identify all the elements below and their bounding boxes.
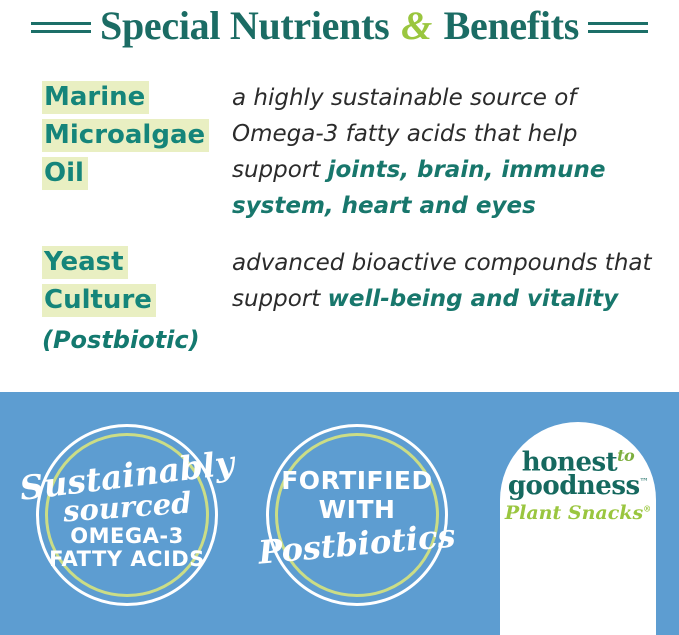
badge-fortified-with-postbiotics: FORTIFIED WITH Postbiotics [266, 424, 448, 606]
badge-line-2: sourced [62, 486, 192, 527]
brand-line-plant-snacks: Plant Snacks® [500, 504, 656, 523]
nutrient-label-line: Microalgae [42, 119, 209, 152]
brand-word-goodness: goodness [508, 471, 640, 501]
nutrient-label-yeast: Yeast Culture (Postbiotic) [42, 243, 232, 359]
page-title-part1: Special Nutrients [100, 3, 399, 48]
nutrient-label-line: Oil [42, 157, 88, 190]
brand-words-plant-snacks: Plant Snacks [505, 502, 643, 524]
description-emphasis-text: well-being and vitality [328, 286, 618, 312]
brand-trademark-symbol: ™ [640, 477, 649, 487]
nutrients-panel: Special Nutrients & Benefits Marine Micr… [0, 0, 679, 392]
page-title-part2: Benefits [434, 3, 579, 48]
badges-panel: Sustainably sourced OMEGA-3 FATTY ACIDS … [0, 392, 679, 635]
brand-logo: honestto goodness™ Plant Snacks® [500, 448, 656, 523]
badge-text-block: Sustainably sourced OMEGA-3 FATTY ACIDS [36, 424, 218, 606]
nutrient-label-subtitle: (Postbiotic) [42, 319, 200, 359]
rule-right-icon [588, 20, 648, 33]
brand-word-to: to [617, 446, 634, 465]
nutrient-label-line: Marine [42, 81, 149, 114]
nutrient-row: Marine Microalgae Oil a highly sustainab… [42, 78, 652, 224]
section-header: Special Nutrients & Benefits [0, 2, 679, 50]
badge-line-3: Postbiotics [257, 515, 457, 572]
nutrient-description-marine: a highly sustainable source of Omega-3 f… [232, 78, 652, 224]
badge-line-2: WITH [319, 495, 396, 524]
page-title: Special Nutrients & Benefits [100, 4, 579, 48]
nutrient-label-line: Culture [42, 284, 156, 317]
nutrient-label-line: Yeast [42, 246, 128, 279]
rule-left-icon [31, 20, 91, 33]
badge-line-3: OMEGA-3 FATTY ACIDS [36, 525, 218, 571]
brand-line-goodness: goodness™ [500, 473, 656, 499]
brand-registered-symbol: ® [643, 503, 651, 513]
badge-text-block: FORTIFIED WITH Postbiotics [266, 424, 448, 606]
nutrient-row: Yeast Culture (Postbiotic) advanced bioa… [42, 243, 652, 359]
brand-logo-arch: honestto goodness™ Plant Snacks® [500, 422, 656, 635]
ampersand-glyph: & [399, 3, 434, 48]
nutrient-label-marine: Marine Microalgae Oil [42, 78, 232, 192]
badge-line-1: FORTIFIED [281, 466, 433, 495]
badge-sustainably-sourced: Sustainably sourced OMEGA-3 FATTY ACIDS [36, 424, 218, 606]
nutrient-description-yeast: advanced bioactive compounds that suppor… [232, 243, 652, 317]
